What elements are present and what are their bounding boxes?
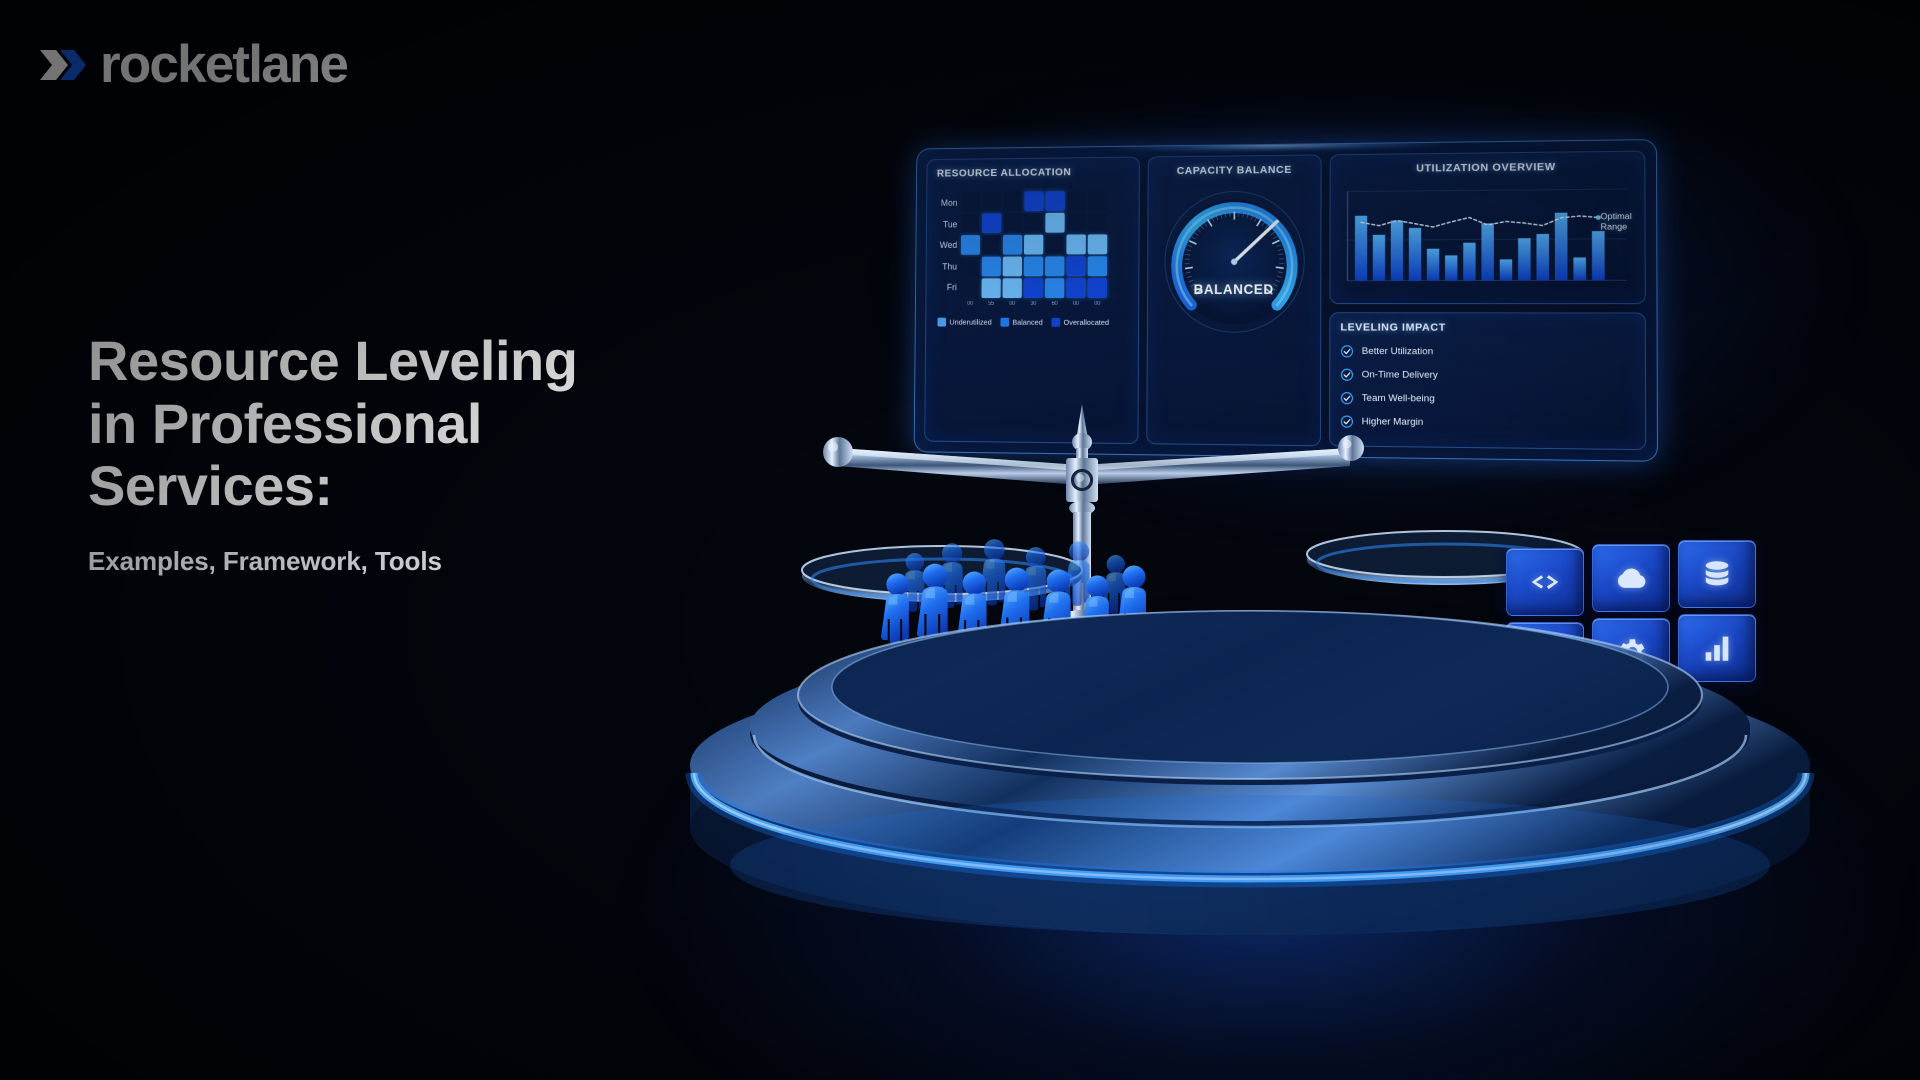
heatmap-grid[interactable] <box>961 191 1108 298</box>
heatmap-cell[interactable] <box>1003 278 1022 298</box>
heatmap-cell[interactable] <box>1045 278 1064 298</box>
heatmap-cell[interactable] <box>982 235 1001 255</box>
heatmap-cell[interactable] <box>1045 256 1064 276</box>
heatmap-cell[interactable] <box>1045 191 1064 211</box>
code-icon <box>1528 565 1562 599</box>
scale-left-knob <box>823 437 853 467</box>
heatmap-row-label: Tue <box>936 214 961 234</box>
heatmap-cell[interactable] <box>1066 234 1086 254</box>
headline-line-1: Resource Leveling <box>88 329 577 392</box>
bar[interactable] <box>1373 235 1385 281</box>
panel-title-leveling-impact: LEVELING IMPACT <box>1340 321 1634 334</box>
hero-copy: Resource Leveling in Professional Servic… <box>88 330 748 577</box>
heatmap-x-tick: 00 <box>960 301 979 307</box>
circular-podium <box>650 615 1850 955</box>
heatmap-cell[interactable] <box>1067 213 1087 233</box>
double-chevron-mark <box>36 40 88 90</box>
optimal-range-annotation: Optimal Range <box>1600 212 1631 233</box>
heatmap-row-label: Mon <box>937 193 962 213</box>
legend-label: Overallocated <box>1064 318 1110 327</box>
heatmap-cell[interactable] <box>961 213 980 233</box>
bar[interactable] <box>1463 243 1475 281</box>
podium-graphic <box>650 615 1850 955</box>
headline-line-2: in Professional <box>88 392 482 455</box>
capability-cube[interactable] <box>1592 544 1670 612</box>
heatmap-cell[interactable] <box>982 213 1001 233</box>
leveling-impact-item[interactable]: Better Utilization <box>1340 345 1634 360</box>
heatmap-cell[interactable] <box>1088 234 1108 254</box>
legend-swatch <box>1051 318 1060 327</box>
heatmap-cell[interactable] <box>1024 278 1043 298</box>
capacity-gauge: BALANCED <box>1161 188 1307 336</box>
heatmap-cell[interactable] <box>961 192 980 212</box>
brand-logo-text: rocketlane <box>100 38 347 91</box>
brand-logo[interactable]: rocketlane <box>36 38 347 91</box>
legend-label: Balanced <box>1012 318 1043 327</box>
bar-chart-graphic <box>1341 181 1635 289</box>
bar[interactable] <box>1592 231 1605 280</box>
heatmap-x-tick: 00 <box>1066 301 1085 307</box>
heatmap-cell[interactable] <box>1024 256 1043 276</box>
heatmap-cell[interactable] <box>1066 256 1086 276</box>
heatmap-cell[interactable] <box>1087 278 1107 298</box>
heatmap-x-tick: 00 <box>1087 301 1107 307</box>
heatmap-x-tick: 55 <box>981 301 1000 307</box>
capability-cube[interactable] <box>1678 540 1756 608</box>
heatmap-cell[interactable] <box>1088 256 1108 276</box>
heatmap-cell[interactable] <box>1024 213 1043 233</box>
heatmap-cell[interactable] <box>1088 191 1108 211</box>
capability-cube[interactable] <box>1506 548 1584 616</box>
heatmap-cell[interactable] <box>1066 278 1086 298</box>
bar-series <box>1355 212 1605 280</box>
heatmap-row-label: Thu <box>936 256 961 276</box>
bar[interactable] <box>1500 259 1512 280</box>
scale-right-knob <box>1338 435 1364 461</box>
heatmap-cell[interactable] <box>1045 213 1064 233</box>
legend-swatch <box>1000 318 1009 327</box>
database-icon <box>1700 557 1734 591</box>
gauge-graphic <box>1161 188 1307 336</box>
panel-title-utilization-overview: UTILIZATION OVERVIEW <box>1341 160 1634 175</box>
utilization-bar-chart: Optimal Range <box>1341 181 1635 289</box>
heatmap-x-tick: 60 <box>1045 301 1064 307</box>
panel-utilization-overview[interactable]: UTILIZATION OVERVIEW <box>1329 151 1645 305</box>
heatmap-cell[interactable] <box>1003 257 1022 277</box>
heatmap-cell[interactable] <box>982 257 1001 277</box>
heatmap-cell[interactable] <box>1088 212 1108 232</box>
heatmap-cell[interactable] <box>961 278 980 298</box>
heatmap-cell[interactable] <box>1003 191 1022 211</box>
bar[interactable] <box>1445 255 1457 280</box>
heatmap-row-label: Wed <box>936 235 961 255</box>
bar[interactable] <box>1573 257 1586 280</box>
panel-title-capacity-balance: CAPACITY BALANCE <box>1177 164 1292 177</box>
heatmap-cell[interactable] <box>961 257 980 277</box>
heatmap-legend: UnderutilizedBalancedOverallocated <box>937 318 1128 327</box>
gauge-status-label: BALANCED <box>1161 282 1306 297</box>
legend-label: Underutilized <box>949 318 991 327</box>
heatmap-row-label: Fri <box>936 277 961 297</box>
legend-item[interactable]: Balanced <box>1000 318 1043 327</box>
heatmap-cell[interactable] <box>961 235 980 255</box>
headline-line-3: Services: <box>88 454 333 517</box>
screen-top-glint <box>1115 139 1440 152</box>
heatmap-cell[interactable] <box>1024 235 1043 255</box>
heatmap-cell[interactable] <box>981 278 1000 298</box>
heatmap-x-tick: 30 <box>1024 301 1043 307</box>
heatmap-cell[interactable] <box>1067 191 1086 211</box>
heatmap-cell[interactable] <box>1045 235 1064 255</box>
heatmap-x-tick: 00 <box>1002 301 1021 307</box>
bar[interactable] <box>1481 223 1493 280</box>
heatmap-cell[interactable] <box>1003 213 1022 233</box>
legend-item[interactable]: Underutilized <box>937 318 991 327</box>
page-subtitle: Examples, Framework, Tools <box>88 546 748 577</box>
legend-swatch <box>937 318 946 327</box>
bar[interactable] <box>1355 216 1367 281</box>
cloud-icon <box>1614 561 1648 595</box>
bar[interactable] <box>1536 234 1549 281</box>
leveling-impact-label: Better Utilization <box>1362 346 1434 358</box>
legend-item[interactable]: Overallocated <box>1051 318 1109 327</box>
heatmap-cell[interactable] <box>1003 235 1022 255</box>
bar[interactable] <box>1555 213 1568 281</box>
optimal-range-line-2: Range <box>1600 222 1631 232</box>
heatmap-x-ticks: 00550030600000 <box>960 301 1128 307</box>
bar[interactable] <box>1391 220 1403 280</box>
heatmap-cell[interactable] <box>982 192 1001 212</box>
bar[interactable] <box>1409 228 1421 281</box>
check-circle-icon <box>1340 345 1353 358</box>
page-title: Resource Leveling in Professional Servic… <box>88 330 748 518</box>
panel-title-resource-allocation: RESOURCE ALLOCATION <box>937 166 1129 180</box>
bar[interactable] <box>1427 249 1439 281</box>
heatmap-cell[interactable] <box>1024 191 1043 211</box>
heatmap-row-labels: Mon Tue Wed Thu Fri <box>936 192 962 298</box>
bar[interactable] <box>1518 238 1531 280</box>
